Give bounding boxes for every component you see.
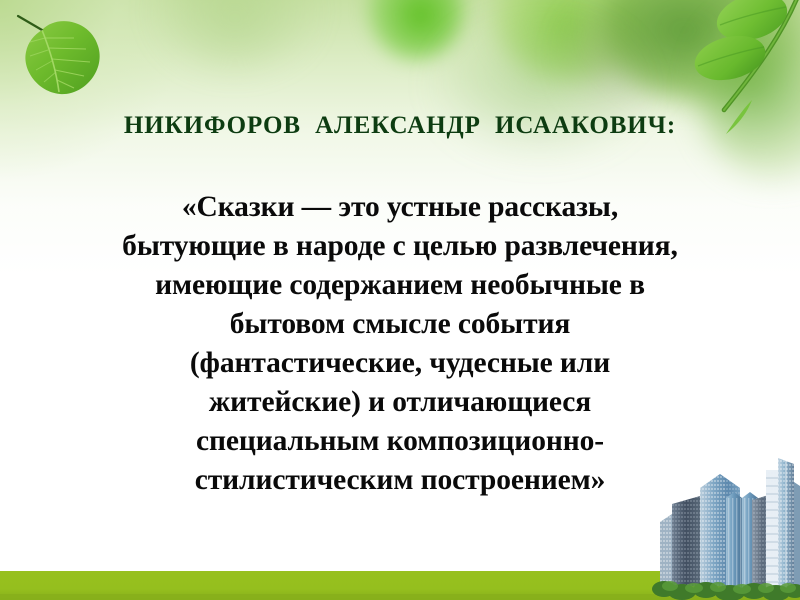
quote-line: бытующие в народе с целью развлечения,	[38, 227, 762, 266]
page-title: НИКИФОРОВ АЛЕКСАНДР ИСААКОВИЧ:	[0, 112, 800, 140]
quote-line: житейские) и отличающиеся	[38, 383, 762, 422]
branch-with-leaves-icon	[686, 0, 800, 114]
quote-line: имеющие содержанием необычные в	[38, 266, 762, 305]
quote-line: бытовом смысле события	[38, 305, 762, 344]
leaf-icon	[12, 8, 116, 104]
city-skyline-image	[648, 452, 800, 600]
quote-line: «Сказки — это устные рассказы,	[38, 188, 762, 227]
presentation-slide: НИКИФОРОВ АЛЕКСАНДР ИСААКОВИЧ: «Сказки —…	[0, 0, 800, 600]
quote-line: (фантастические, чудесные или	[38, 344, 762, 383]
